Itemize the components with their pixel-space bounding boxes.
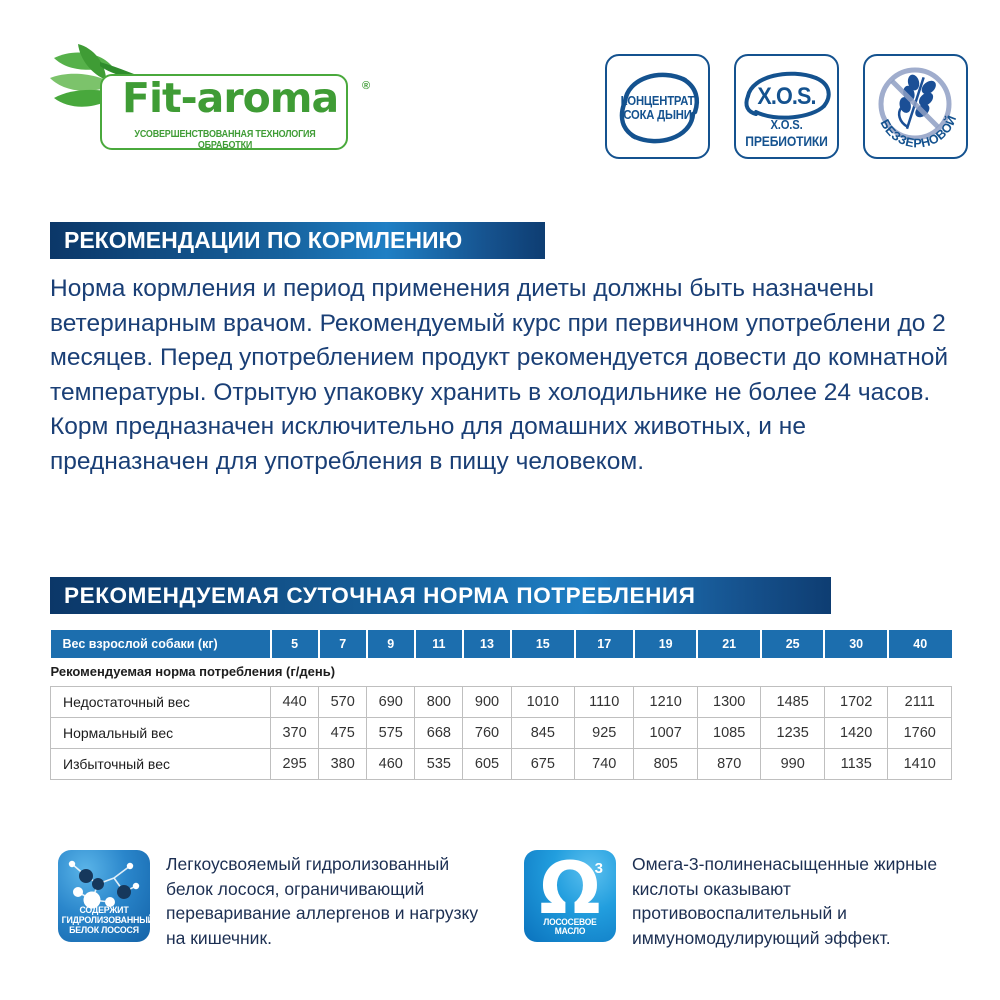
badge-melon-juice-concentrate: КОНЦЕНТРАТ СОКА ДЫНИ	[605, 54, 710, 159]
row-label-overweight: Избыточный вес	[51, 748, 271, 779]
row-label-normal: Нормальный вес	[51, 717, 271, 748]
table-header-w-5: 5	[271, 630, 319, 658]
table-row: Нормальный вес 370 475 575 668 760 845 9…	[51, 717, 952, 748]
cell-underweight-11: 800	[415, 686, 463, 717]
table-head: Вес взрослой собаки (кг) 5 7 9 11 13 15 …	[51, 630, 952, 658]
cell-underweight-5: 440	[271, 686, 319, 717]
cell-overweight-17: 740	[575, 748, 634, 779]
row-label-underweight: Недостаточный вес	[51, 686, 271, 717]
table-header-w-21: 21	[697, 630, 761, 658]
cell-normal-40: 1760	[888, 717, 952, 748]
cell-underweight-17: 1110	[575, 686, 634, 717]
protein-caption-line3: БЕЛОК ЛОСОСЯ	[69, 925, 139, 936]
omega-icon-caption: ЛОСОСЕВОЕ МАСЛО	[528, 918, 613, 937]
table-body: Рекомендуемая норма потребления (г/день)…	[51, 658, 952, 779]
feature-protein-text: Легкоусвояемый гидролизованный белок лос…	[166, 850, 498, 950]
badge-xos-prebiotics: X.O.S. X.O.S. ПРЕБИОТИКИ	[734, 54, 839, 159]
cell-underweight-40: 2111	[888, 686, 952, 717]
cell-underweight-9: 690	[367, 686, 415, 717]
cell-underweight-7: 570	[319, 686, 367, 717]
header: Fit-aroma ® УСОВЕРШЕНСТВОВАННАЯ ТЕХНОЛОГ…	[0, 0, 1000, 180]
no-grain-icon: БЕЗЗЕРНОВОЙ СОСТАВ	[865, 56, 968, 159]
feature-omega-3-salmon-oil: Ω 3 ЛОСОСЕВОЕ МАСЛО Омега-3-полиненасыще…	[524, 850, 964, 950]
cell-normal-9: 575	[367, 717, 415, 748]
cell-normal-15: 845	[511, 717, 575, 748]
registered-mark: ®	[362, 80, 370, 92]
table-header-w-7: 7	[319, 630, 367, 658]
molecule-icon: СОДЕРЖИТ ГИДРОЛИЗОВАННЫЙ БЕЛОК ЛОСОСЯ	[58, 850, 150, 942]
cell-underweight-25: 1485	[761, 686, 825, 717]
cell-overweight-25: 990	[761, 748, 825, 779]
badge-xos-line1: X.O.S.	[741, 118, 832, 132]
table-header-w-25: 25	[761, 630, 825, 658]
badge-group: КОНЦЕНТРАТ СОКА ДЫНИ X.O.S. X.O.S. ПРЕБИ…	[605, 54, 968, 159]
table-header-row: Вес взрослой собаки (кг) 5 7 9 11 13 15 …	[51, 630, 952, 658]
badge-xos-line2: ПРЕБИОТИКИ	[741, 134, 832, 149]
table-header-w-17: 17	[575, 630, 634, 658]
section-heading-ration: РЕКОМЕНДУЕМАЯ СУТОЧНАЯ НОРМА ПОТРЕБЛЕНИЯ	[50, 577, 831, 614]
cell-overweight-13: 605	[463, 748, 511, 779]
feeding-recommendations-text: Норма кормления и период применения диет…	[50, 272, 955, 479]
feature-hydrolyzed-salmon-protein: СОДЕРЖИТ ГИДРОЛИЗОВАННЫЙ БЕЛОК ЛОСОСЯ Ле…	[58, 850, 498, 950]
cell-normal-30: 1420	[824, 717, 888, 748]
cell-normal-11: 668	[415, 717, 463, 748]
daily-ration-table: Вес взрослой собаки (кг) 5 7 9 11 13 15 …	[50, 630, 952, 780]
section-heading-feeding-label: РЕКОМЕНДАЦИИ ПО КОРМЛЕНИЮ	[50, 227, 462, 254]
cell-overweight-19: 805	[634, 748, 698, 779]
cell-normal-25: 1235	[761, 717, 825, 748]
table-header-weight-label: Вес взрослой собаки (кг)	[51, 630, 271, 658]
cell-normal-19: 1007	[634, 717, 698, 748]
logo-tagline: УСОВЕРШЕНСТВОВАННАЯ ТЕХНОЛОГИЯ ОБРАБОТКИ	[120, 129, 329, 151]
table-header-w-13: 13	[463, 630, 511, 658]
cell-overweight-9: 460	[367, 748, 415, 779]
cell-underweight-21: 1300	[697, 686, 761, 717]
brand-logo: Fit-aroma ® УСОВЕРШЕНСТВОВАННАЯ ТЕХНОЛОГ…	[48, 42, 348, 142]
cell-normal-13: 760	[463, 717, 511, 748]
section-heading-feeding: РЕКОМЕНДАЦИИ ПО КОРМЛЕНИЮ	[50, 222, 545, 259]
logo-wordmark: Fit-aroma	[122, 78, 338, 119]
table-header-w-9: 9	[367, 630, 415, 658]
cell-overweight-11: 535	[415, 748, 463, 779]
table-subheader-row: Рекомендуемая норма потребления (г/день)	[51, 658, 952, 686]
omega-superscript: 3	[595, 860, 603, 877]
badge-melon-line1: КОНЦЕНТРАТ	[621, 94, 695, 108]
table-row: Избыточный вес 295 380 460 535 605 675 7…	[51, 748, 952, 779]
feature-omega-text: Омега-3-полиненасыщенные жирные кислоты …	[632, 850, 964, 950]
badge-melon-line2: СОКА ДЫНИ	[623, 108, 691, 122]
cell-underweight-19: 1210	[634, 686, 698, 717]
cell-normal-7: 475	[319, 717, 367, 748]
cell-overweight-40: 1410	[888, 748, 952, 779]
table-header-w-19: 19	[634, 630, 698, 658]
table-header-w-30: 30	[824, 630, 888, 658]
table-subheader-label: Рекомендуемая норма потребления (г/день)	[51, 658, 952, 686]
cell-overweight-30: 1135	[824, 748, 888, 779]
badge-grain-free: БЕЗЗЕРНОВОЙ СОСТАВ	[863, 54, 968, 159]
omega-icon: Ω 3 ЛОСОСЕВОЕ МАСЛО	[524, 850, 616, 942]
cell-underweight-13: 900	[463, 686, 511, 717]
badge-xos-title: X.O.S.	[741, 84, 832, 111]
cell-overweight-5: 295	[271, 748, 319, 779]
cell-normal-21: 1085	[697, 717, 761, 748]
table-header-w-15: 15	[511, 630, 575, 658]
cell-underweight-30: 1702	[824, 686, 888, 717]
cell-underweight-15: 1010	[511, 686, 575, 717]
product-label-page: Fit-aroma ® УСОВЕРШЕНСТВОВАННАЯ ТЕХНОЛОГ…	[0, 0, 1000, 1000]
cell-overweight-21: 870	[697, 748, 761, 779]
cell-overweight-15: 675	[511, 748, 575, 779]
cell-normal-5: 370	[271, 717, 319, 748]
section-heading-ration-label: РЕКОМЕНДУЕМАЯ СУТОЧНАЯ НОРМА ПОТРЕБЛЕНИЯ	[50, 583, 695, 609]
cell-overweight-7: 380	[319, 748, 367, 779]
table-header-w-40: 40	[888, 630, 952, 658]
table-row: Недостаточный вес 440 570 690 800 900 10…	[51, 686, 952, 717]
badge-melon-label: КОНЦЕНТРАТ СОКА ДЫНИ	[612, 94, 703, 122]
molecule-icon-caption: СОДЕРЖИТ ГИДРОЛИЗОВАННЫЙ БЕЛОК ЛОСОСЯ	[62, 906, 147, 936]
table-header-w-11: 11	[415, 630, 463, 658]
cell-normal-17: 925	[575, 717, 634, 748]
